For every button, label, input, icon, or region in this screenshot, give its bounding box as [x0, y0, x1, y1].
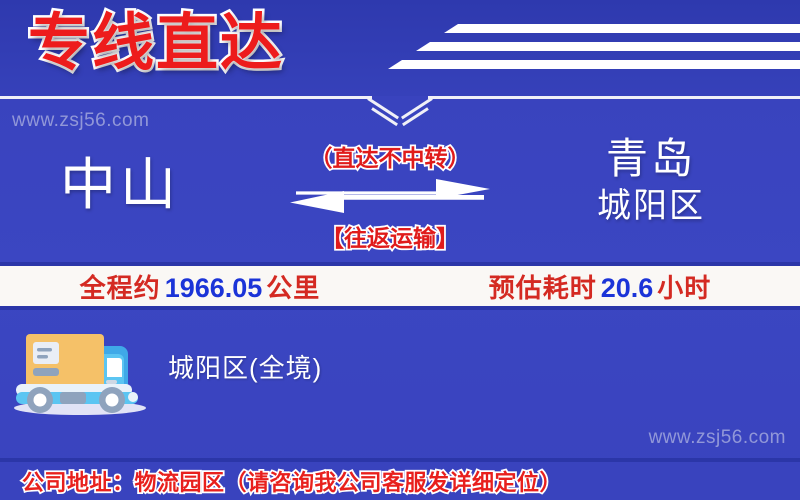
- roundtrip-badge: 【往返运输】: [280, 219, 500, 253]
- route-section: 中山 （直达不中转） 【往返运输】 青岛 城阳区: [0, 132, 800, 258]
- coverage-label: 城阳区(全境): [168, 348, 322, 385]
- bidirectional-arrow-icon: [290, 177, 490, 215]
- watermark-bottom: www.zsj56.com: [649, 427, 786, 449]
- destination-city: 青岛: [520, 134, 782, 184]
- metric-distance-unit: 公里: [266, 273, 320, 303]
- metrics-bar: 全程约1966.05公里 预估耗时20.6小时: [0, 262, 800, 310]
- page-title: 专线直达: [28, 6, 284, 82]
- route-center: （直达不中转） 【往返运输】: [280, 132, 500, 258]
- speed-lines-icon: [380, 8, 800, 86]
- direct-badge: （直达不中转）: [280, 139, 500, 173]
- chevron-down-icon: [368, 95, 432, 125]
- metric-duration: 预估耗时20.6小时: [400, 268, 800, 305]
- delivery-truck-icon: [8, 318, 158, 418]
- metric-distance: 全程约1966.05公里: [0, 268, 400, 305]
- destination-district: 城阳区: [520, 184, 782, 228]
- company-address-text: 公司地址：物流园区（请咨询我公司客服发详细定位）: [22, 465, 562, 497]
- metric-distance-label: 全程约: [80, 273, 161, 303]
- logistics-route-poster: 专线直达 www.zsj56.com www.zsj56.com 中山 （直达不…: [0, 0, 800, 500]
- origin-city: 中山: [60, 154, 180, 216]
- footer-bar: 公司地址：物流园区（请咨询我公司客服发详细定位）: [0, 458, 800, 500]
- destination: 青岛 城阳区: [520, 134, 782, 228]
- metric-duration-label: 预估耗时: [489, 273, 597, 303]
- coverage-section: 城阳区(全境): [0, 314, 800, 424]
- metric-duration-unit: 小时: [657, 273, 711, 303]
- metric-distance-value: 1966.05: [161, 273, 267, 303]
- watermark-top: www.zsj56.com: [12, 110, 149, 132]
- metric-duration-value: 20.6: [597, 273, 658, 303]
